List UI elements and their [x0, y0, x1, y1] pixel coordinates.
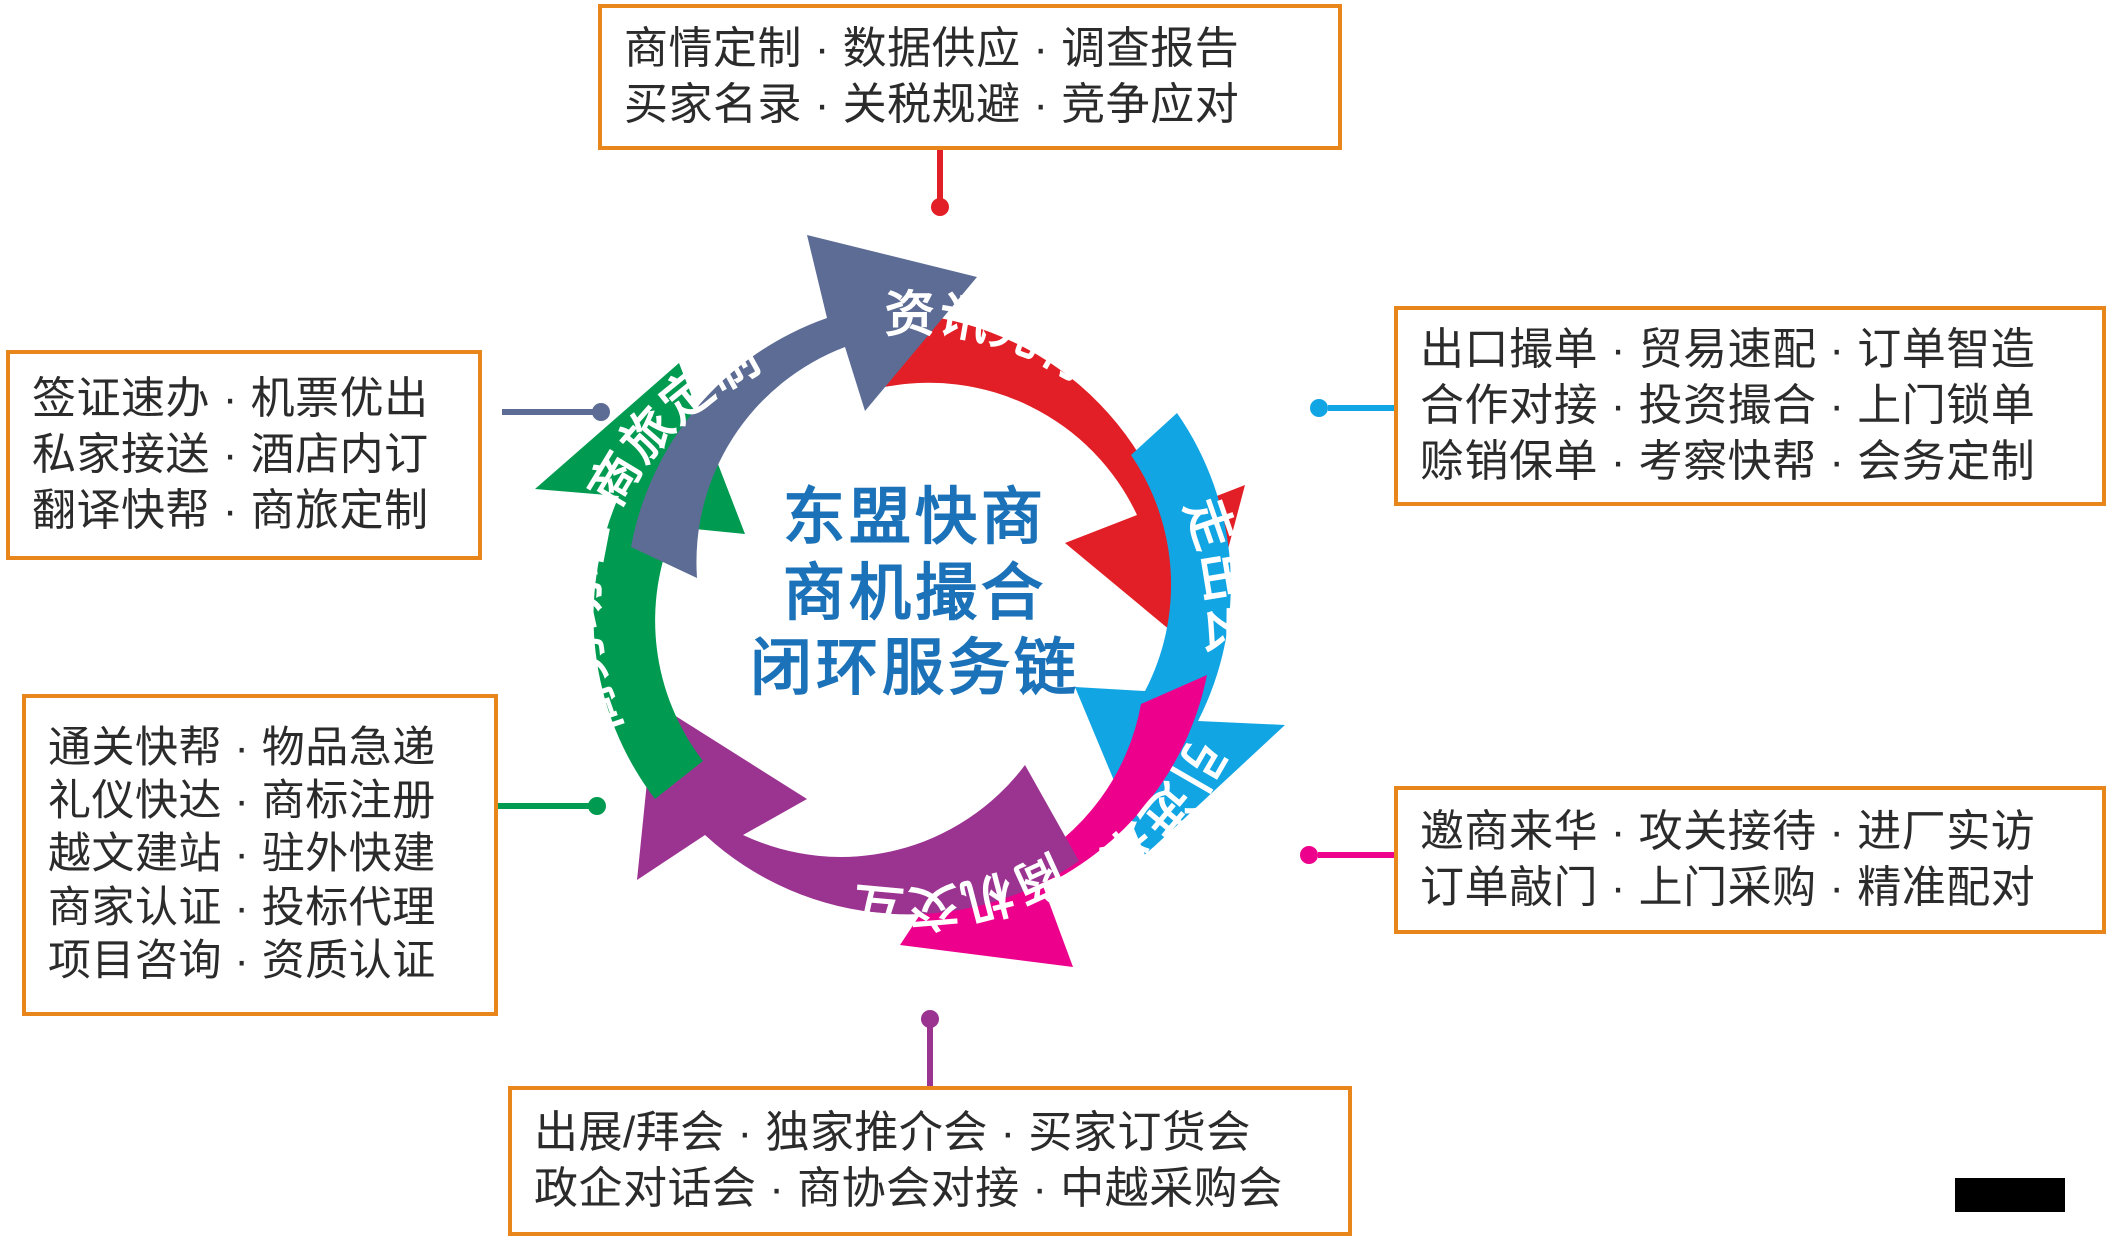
center-headline: 东盟快商 商机撮合 闭环服务链: [700, 480, 1130, 707]
callout-right-lower-line-1: 邀商来华 · 攻关接待 · 进厂实访: [1420, 804, 2080, 860]
callout-top-line-2: 买家名录 · 关税规避 · 竞争应对: [624, 77, 1316, 133]
center-line-2: 商机撮合: [700, 556, 1130, 632]
connector-right-upper: [1310, 398, 1400, 418]
center-line-1: 东盟快商: [700, 480, 1130, 556]
callout-right-upper-line-2: 合作对接 · 投资撮合 · 上门锁单: [1420, 378, 2080, 434]
callout-bottom-line-2: 政企对话会 · 商协会对接 · 中越采购会: [534, 1161, 1326, 1217]
connector-top: [930, 150, 950, 220]
redaction-bar: [1955, 1178, 2065, 1212]
callout-top-line-1: 商情定制 · 数据供应 · 调查报告: [624, 21, 1316, 77]
callout-right-lower-line-2: 订单敲门 · 上门采购 · 精准配对: [1420, 860, 2080, 916]
callout-right-upper[interactable]: 出口撮单 · 贸易速配 · 订单智造 合作对接 · 投资撮合 · 上门锁单 赊销…: [1394, 306, 2106, 506]
connector-right-lower: [1300, 845, 1400, 865]
callout-bottom-line-1: 出展/拜会 · 独家推介会 · 买家订货会: [534, 1105, 1326, 1161]
callout-left-upper[interactable]: 签证速办 · 机票优出 私家接送 · 酒店内订 翻译快帮 · 商旅定制: [6, 350, 482, 560]
connector-left-lower: [498, 796, 608, 816]
callout-left-lower-line-4: 商家认证 · 投标代理: [48, 882, 472, 935]
callout-bottom[interactable]: 出展/拜会 · 独家推介会 · 买家订货会 政企对话会 · 商协会对接 · 中越…: [508, 1086, 1352, 1236]
center-line-3: 闭环服务链: [700, 631, 1130, 707]
callout-right-upper-line-1: 出口撮单 · 贸易速配 · 订单智造: [1420, 322, 2080, 378]
callout-top[interactable]: 商情定制 · 数据供应 · 调查报告 买家名录 · 关税规避 · 竞争应对: [598, 4, 1342, 150]
callout-left-upper-line-3: 翻译快帮 · 商旅定制: [32, 483, 456, 539]
callout-left-lower[interactable]: 通关快帮 · 物品急递 礼仪快达 · 商标注册 越文建站 · 驻外快建 商家认证…: [22, 694, 498, 1016]
callout-left-lower-line-5: 项目咨询 · 资质认证: [48, 935, 472, 988]
callout-left-lower-line-3: 越文建站 · 驻外快建: [48, 828, 472, 881]
callout-left-lower-line-2: 礼仪快达 · 商标注册: [48, 775, 472, 828]
callout-right-lower[interactable]: 邀商来华 · 攻关接待 · 进厂实访 订单敲门 · 上门采购 · 精准配对: [1394, 786, 2106, 934]
callout-left-lower-line-1: 通关快帮 · 物品急递: [48, 722, 472, 775]
callout-left-upper-line-2: 私家接送 · 酒店内订: [32, 427, 456, 483]
connector-bottom: [920, 1010, 940, 1090]
infographic-canvas: 资讯先行 走出去 引进来 商机交互 商务助理 商旅定制 东盟快商 商机撮合 闭环…: [0, 0, 2110, 1247]
connector-left-upper: [502, 402, 612, 422]
callout-right-upper-line-3: 赊销保单 · 考察快帮 · 会务定制: [1420, 434, 2080, 490]
callout-left-upper-line-1: 签证速办 · 机票优出: [32, 371, 456, 427]
